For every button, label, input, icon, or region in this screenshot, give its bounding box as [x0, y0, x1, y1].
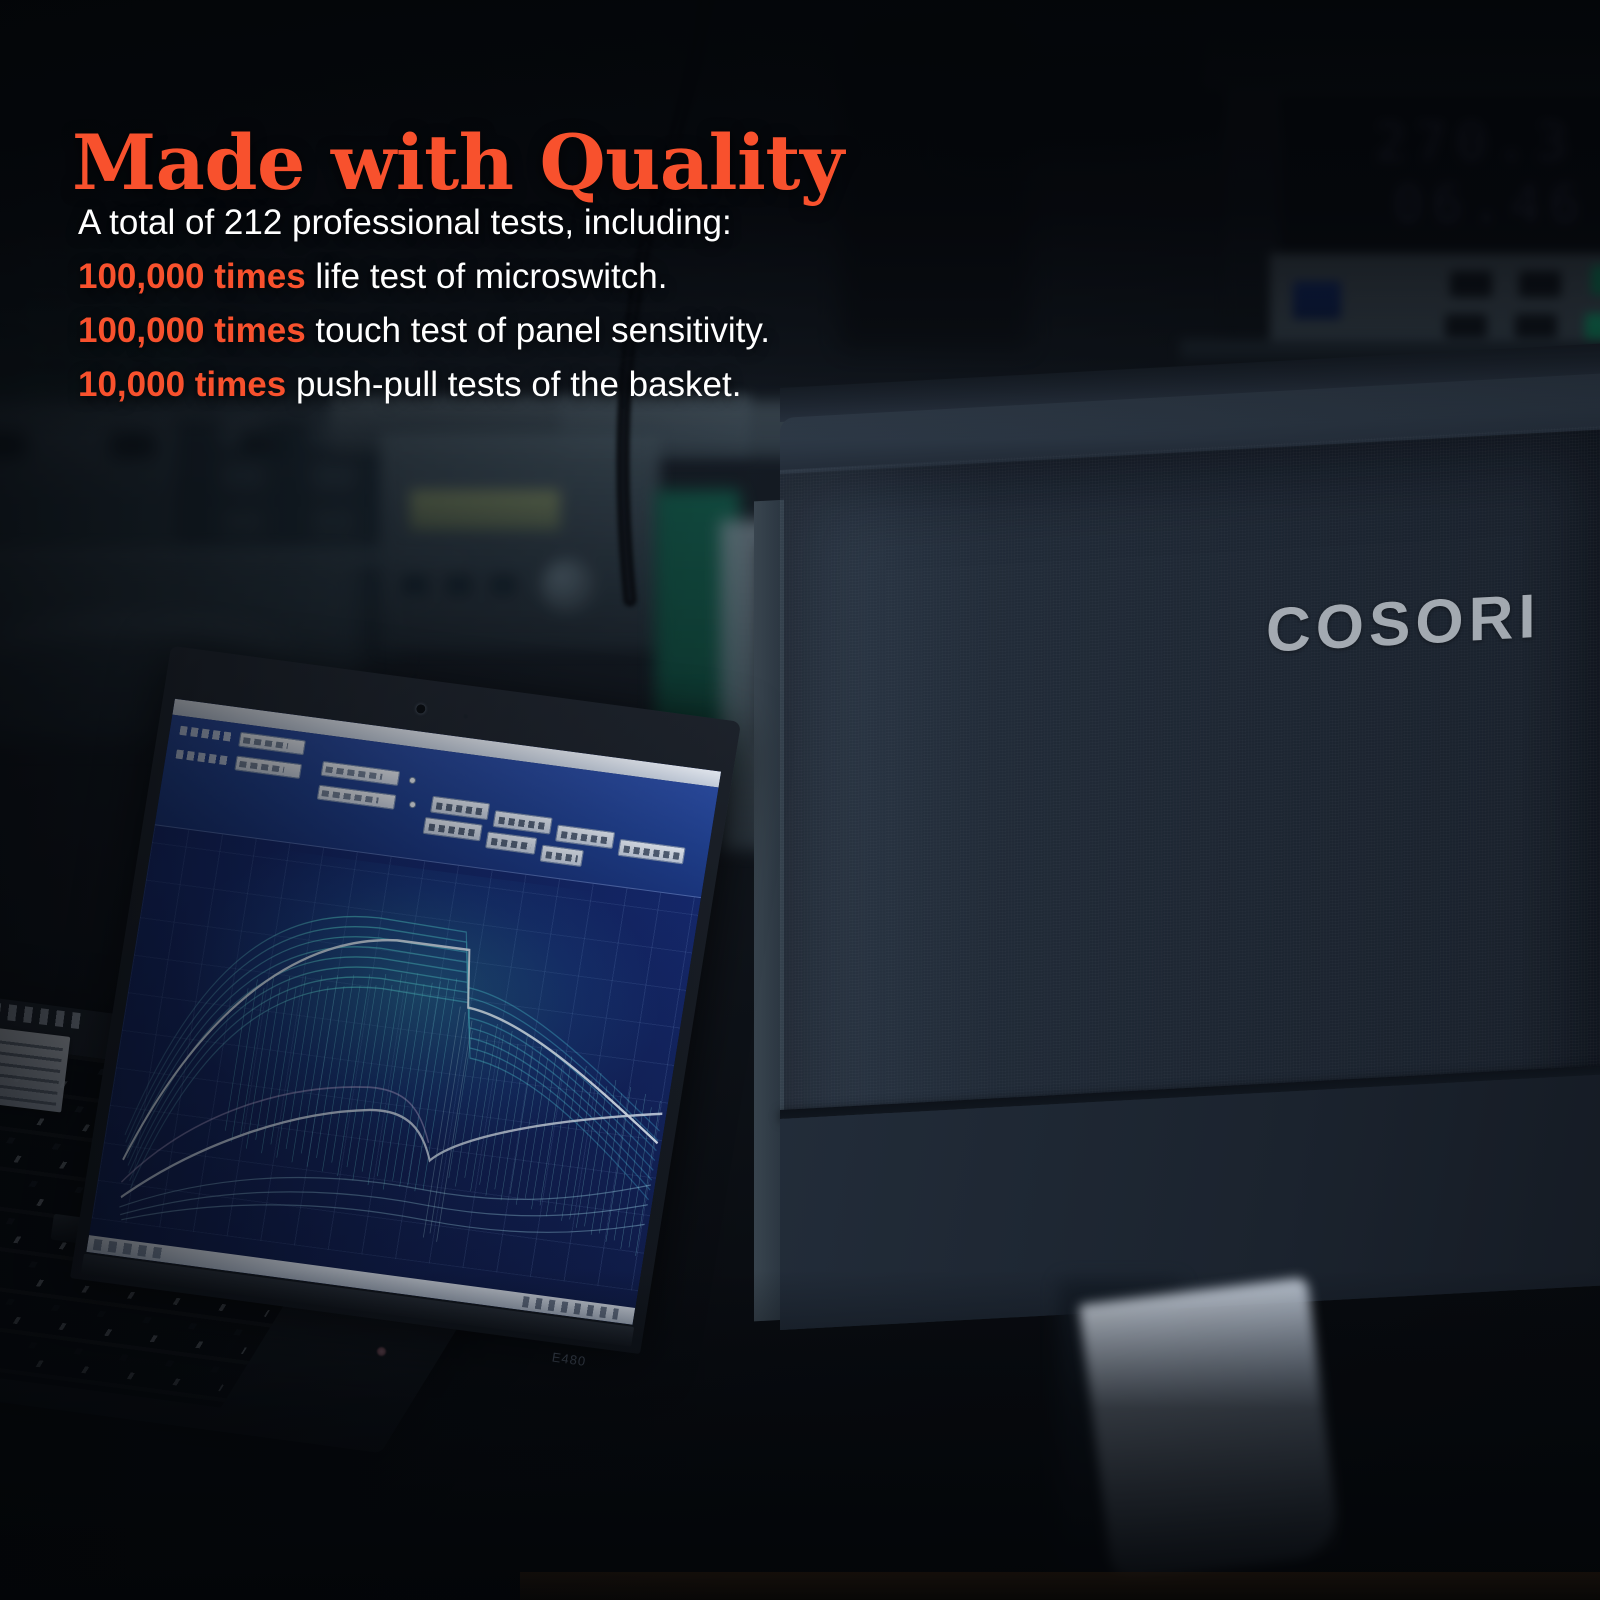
bullet-text-1: life test of microswitch.: [306, 257, 668, 296]
bullet-text-2: touch test of panel sensitivity.: [306, 311, 770, 350]
page-title: Made with Quality: [72, 125, 844, 201]
promo-banner: 270.3 06.46 COSORI: [0, 0, 1600, 1600]
bullet-text-3: push-pull tests of the basket.: [286, 365, 741, 404]
bullet-count-1: 100,000 times: [78, 257, 306, 296]
bullet-count-2: 100,000 times: [78, 311, 306, 350]
bullet-count-3: 10,000 times: [78, 365, 286, 404]
bullet-line-1: 100,000 times life test of microswitch.: [78, 250, 1078, 304]
intro-line: A total of 212 professional tests, inclu…: [78, 196, 1078, 250]
cosori-logo: COSORI: [1266, 581, 1541, 667]
cosori-test-chamber: COSORI: [780, 425, 1600, 1330]
bullet-line-2: 100,000 times touch test of panel sensit…: [78, 304, 1078, 358]
bullet-line-3: 10,000 times push-pull tests of the bask…: [78, 358, 1078, 412]
copy-block: A total of 212 professional tests, inclu…: [78, 196, 1078, 412]
